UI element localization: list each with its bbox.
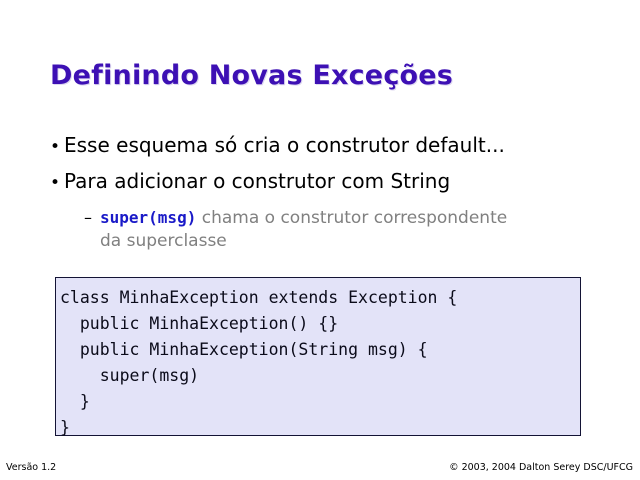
bullet-dot-icon: • xyxy=(50,139,64,156)
slide-canvas: Definindo Novas Exceções • Esse esquema … xyxy=(0,0,640,480)
bullet-dash-icon: – xyxy=(84,207,92,229)
bullet-item-1: • Esse esquema só cria o construtor defa… xyxy=(50,134,505,156)
inline-code-super-msg: super(msg) xyxy=(100,208,196,227)
sub-bullet-item: – super(msg) chama o construtor correspo… xyxy=(84,207,514,253)
bullet-item-2: • Para adicionar o construtor com String xyxy=(50,170,450,192)
page-title: Definindo Novas Exceções xyxy=(50,60,453,91)
code-block-text: class MinhaException extends Exception {… xyxy=(60,285,580,441)
bullet-dot-icon: • xyxy=(50,175,64,192)
bullet-item-1-label: Esse esquema só cria o construtor defaul… xyxy=(64,134,505,156)
bullet-item-2-label: Para adicionar o construtor com String xyxy=(64,170,450,192)
footer-version: Versão 1.2 xyxy=(6,462,56,473)
sub-bullet-label: super(msg) chama o construtor correspond… xyxy=(100,207,514,253)
code-block: class MinhaException extends Exception {… xyxy=(55,277,581,436)
footer-copyright: © 2003, 2004 Dalton Serey DSC/UFCG xyxy=(449,462,633,473)
